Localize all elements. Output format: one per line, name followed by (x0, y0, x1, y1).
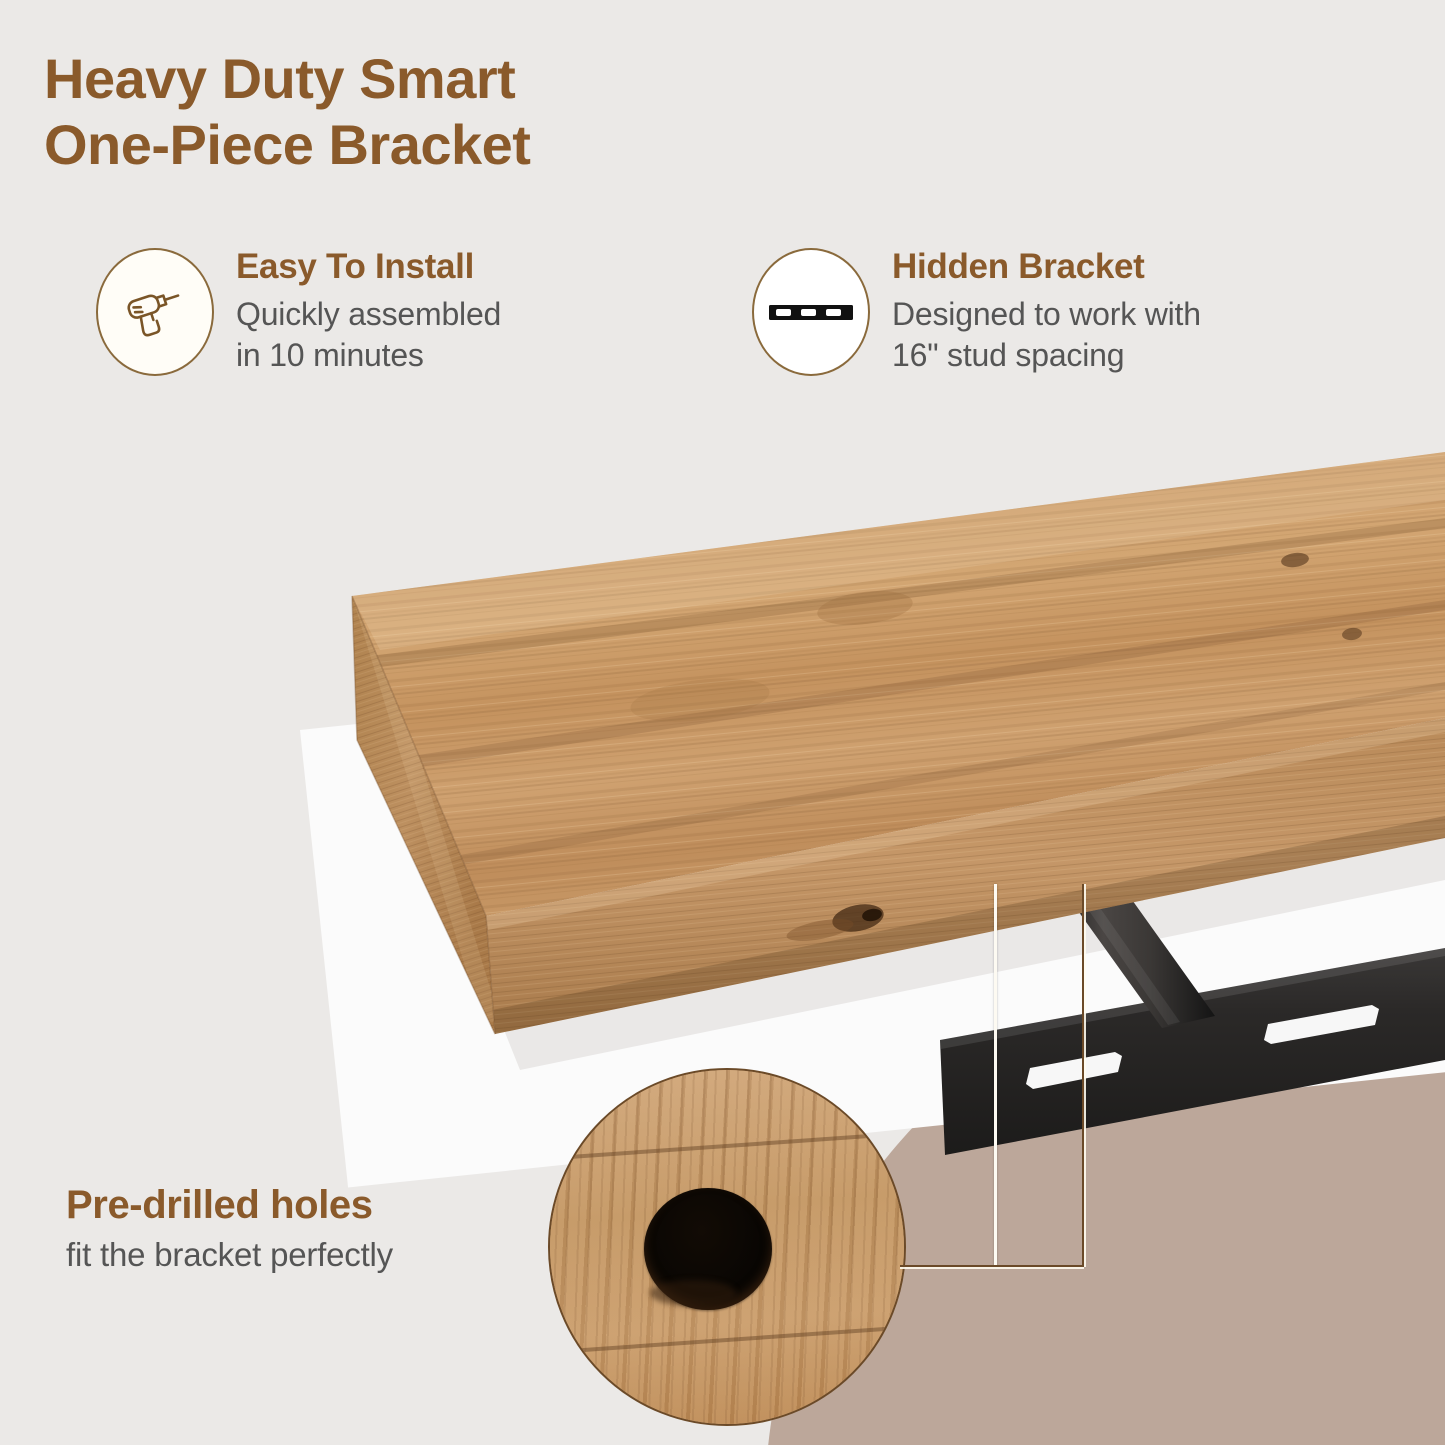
drill-icon (96, 248, 214, 376)
feature-item-hidden-bracket: Hidden Bracket Designed to work with 16"… (752, 244, 1392, 376)
zoom-inset-wood (550, 1070, 904, 1424)
zoom-inset-predrilled-hole (548, 1068, 906, 1426)
callout-text-block: Pre-drilled holes fit the bracket perfec… (66, 1182, 393, 1274)
feature-item-easy-to-install: Easy To Install Quickly assembled in 10 … (96, 244, 696, 376)
bracket-wall-plate (940, 948, 1445, 1155)
feature-subtext: Designed to work with 16" stud spacing (892, 294, 1201, 376)
feature-heading: Easy To Install (236, 246, 501, 288)
feature-heading: Hidden Bracket (892, 246, 1201, 288)
callout-heading: Pre-drilled holes (66, 1182, 393, 1228)
infographic-canvas: Heavy Duty Smart One-Piece Bracket (0, 0, 1445, 1445)
feature-subtext: Quickly assembled in 10 minutes (236, 294, 501, 376)
zoom-inset-seam-top (548, 1130, 906, 1161)
predrilled-hole (644, 1188, 772, 1310)
feature-text-block: Hidden Bracket Designed to work with 16"… (892, 244, 1201, 376)
page-title: Heavy Duty Smart One-Piece Bracket (44, 46, 530, 178)
callout-line-highlight (994, 884, 997, 1266)
bracket-bar-icon (752, 248, 870, 376)
callout-line-vertical (1082, 884, 1084, 1267)
feature-text-block: Easy To Install Quickly assembled in 10 … (236, 244, 501, 376)
callout-subtext: fit the bracket perfectly (66, 1236, 393, 1274)
zoom-inset-seam-bottom (548, 1324, 906, 1355)
feature-list: Easy To Install Quickly assembled in 10 … (0, 244, 1445, 376)
callout-line-horizontal (900, 1265, 1084, 1267)
